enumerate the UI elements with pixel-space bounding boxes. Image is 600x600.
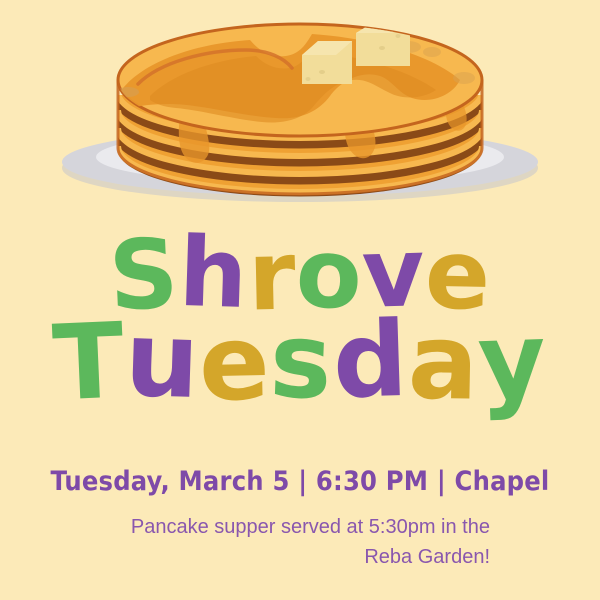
shrove-tuesday-poster: Shrove Tuesday Tuesday, March 5 | 6:30 P… <box>0 0 600 600</box>
title-letter: d <box>331 310 409 412</box>
title-letter: e <box>198 313 271 414</box>
syrup-speck <box>453 72 475 84</box>
title-letter: y <box>477 311 549 413</box>
butter-speck <box>319 70 325 74</box>
title-letter: s <box>268 311 334 413</box>
butter-speck <box>396 34 401 38</box>
butter-speck <box>379 46 385 50</box>
title-letter: T <box>51 312 127 415</box>
pancake-stack-illustration <box>0 0 600 225</box>
event-details-line: Tuesday, March 5 | 6:30 PM | Chapel <box>0 466 600 497</box>
page-title: Shrove Tuesday <box>0 228 600 412</box>
syrup-speck <box>423 47 441 57</box>
title-line-tuesday: Tuesday <box>0 312 600 412</box>
title-letter: u <box>123 310 201 412</box>
title-letter: a <box>407 312 480 413</box>
butter-speck <box>306 77 311 81</box>
event-subtitle: Pancake supper served at 5:30pm in the R… <box>110 512 490 573</box>
